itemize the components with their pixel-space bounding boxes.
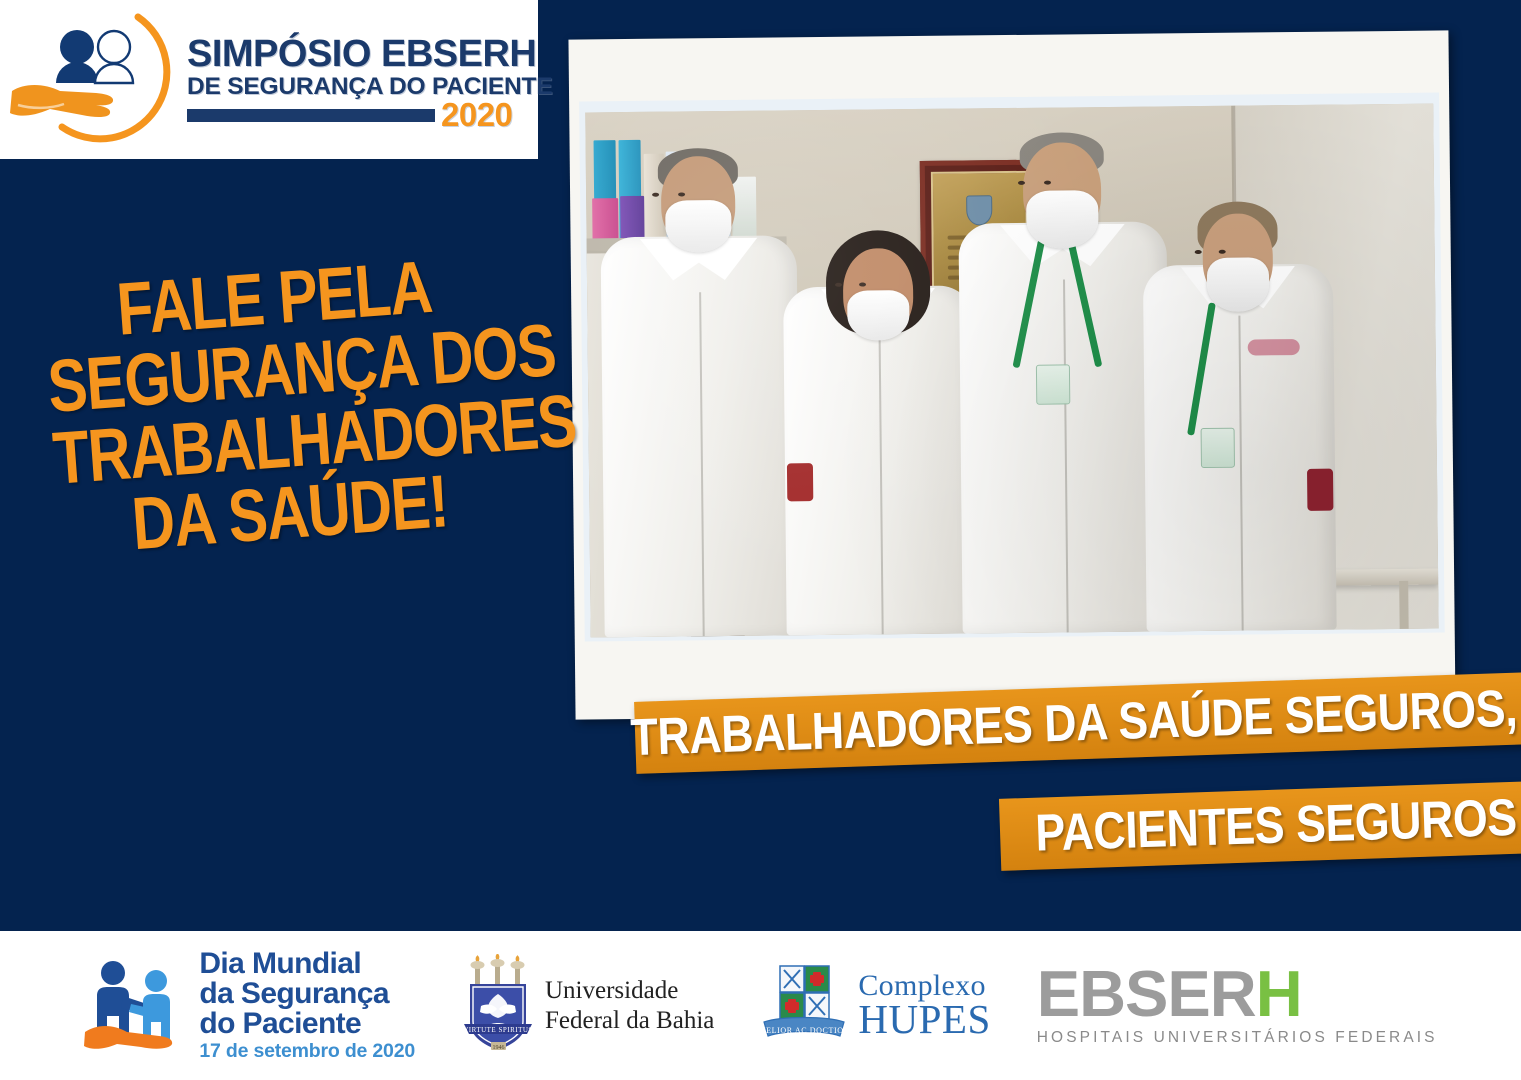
ebserh-wordmark: EBSERH [1037, 964, 1438, 1024]
svg-text:VIRTUTE SPIRITUS: VIRTUTE SPIRITUS [463, 1026, 533, 1034]
svg-text:MELIOR AC DOCTIOR: MELIOR AC DOCTIOR [760, 1026, 848, 1035]
photo-table-leg [1399, 581, 1409, 629]
ufba-logo: VIRTUTE SPIRITUS 1946 Universidade Feder… [461, 954, 714, 1058]
photo-person-4 [1142, 175, 1337, 632]
event-logo: SIMPÓSIO EBSERH DE SEGURANÇA DO PACIENTE… [0, 0, 538, 159]
ufba-line1: Universidade [545, 976, 714, 1006]
ebserh-word-accent: H [1256, 957, 1302, 1030]
dia-mundial-date: 17 de setembro de 2020 [199, 1042, 415, 1062]
hupes-crest-icon: MELIOR AC DOCTIOR [760, 960, 848, 1052]
tagline-banner-2-text: PACIENTES SEGUROS [1035, 792, 1518, 860]
event-logo-line1: SIMPÓSIO EBSERH [187, 36, 552, 73]
people-in-hand-icon [10, 5, 185, 155]
event-logo-text: SIMPÓSIO EBSERH DE SEGURANÇA DO PACIENTE… [187, 30, 552, 128]
two-people-in-hand-icon [83, 954, 189, 1058]
ufba-crest-icon: VIRTUTE SPIRITUS 1946 [461, 954, 535, 1058]
hupes-line2: HUPES [858, 999, 990, 1040]
dia-mundial-logo: Dia Mundial da Segurança do Paciente 17 … [83, 949, 415, 1062]
dia-mundial-line2: da Segurança [199, 979, 415, 1009]
ebserh-logo: EBSERH HOSPITAIS UNIVERSITÁRIOS FEDERAIS [1037, 964, 1438, 1047]
svg-text:1946: 1946 [493, 1045, 505, 1051]
photo-person-3 [957, 131, 1170, 633]
headline: FALE PELA SEGURANÇA DOS TRABALHADORES DA… [0, 241, 582, 570]
photo-person-1 [600, 145, 801, 637]
tagline-banner-2: PACIENTES SEGUROS [999, 781, 1521, 871]
photo-frame [568, 30, 1455, 719]
ebserh-word-main: EBSER [1037, 957, 1256, 1030]
hupes-logo: MELIOR AC DOCTIOR Complexo HUPES [760, 960, 990, 1052]
photo-person-2 [782, 193, 977, 635]
team-photo [585, 104, 1438, 638]
event-logo-rule [187, 109, 435, 122]
footer-logo-bar: Dia Mundial da Segurança do Paciente 17 … [0, 931, 1521, 1080]
dia-mundial-line1: Dia Mundial [199, 949, 415, 979]
event-logo-year: 2020 [441, 102, 512, 128]
ebserh-subtitle: HOSPITAIS UNIVERSITÁRIOS FEDERAIS [1037, 1029, 1438, 1047]
dia-mundial-line3: do Paciente [199, 1009, 415, 1039]
ufba-line2: Federal da Bahia [545, 1006, 714, 1036]
poster-canvas: SIMPÓSIO EBSERH DE SEGURANÇA DO PACIENTE… [0, 0, 1521, 1080]
